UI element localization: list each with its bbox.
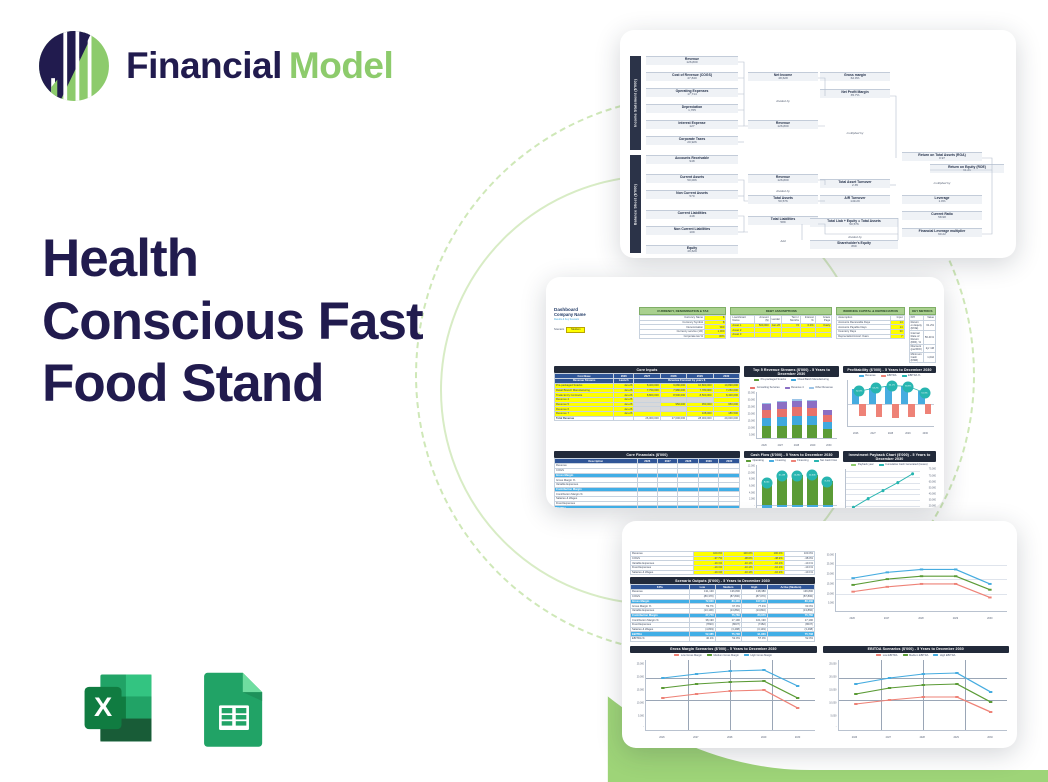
dashboard-note: Results & Key Scenario <box>554 318 635 321</box>
scenario-outputs-table: KPIsLowMediumHighActive (Medium)Revenue1… <box>630 584 815 641</box>
node-cogs: Cost of Revenue (COGS) 47,840 <box>646 72 738 81</box>
scenario-top-row: Revenue100.0%100.0%100.0%100.0%COGS-37.7… <box>630 551 1009 642</box>
payback-line-icon <box>846 469 920 508</box>
scenario-table-panel: Revenue100.0%100.0%100.0%100.0%COGS-37.7… <box>630 551 815 642</box>
debt-panel: DEBT ASSUMPTIONS Loan/Grant Name Amount … <box>730 307 832 338</box>
table-row: Return on Equity (ROE)61.2% <box>909 320 935 331</box>
scenario-overview-chart-panel: 30,000 25,000 20,000 15,000 10,000 5,000 <box>821 551 1009 642</box>
legend-item: Medium EBITDA <box>903 654 929 657</box>
node-total-assets: Total Assets 50,576 <box>748 195 818 204</box>
microsoft-excel-icon: X <box>74 664 162 752</box>
legend-item: Pre-packaged Snacks <box>754 378 786 381</box>
section-label-income-statement: Income Statement ($'000) <box>630 56 641 150</box>
circular-bar-chart-logo-icon <box>36 28 112 104</box>
profitability-panel: Profitability ($'000) - 5 Years to Decem… <box>843 366 936 448</box>
revenue-streams-panel: Top 5 Revenue Streams ($'000) - 5 Years … <box>744 366 839 448</box>
data-label-bubble: 10,332 <box>792 470 803 481</box>
scenario-overview-xlabels: 2026 2027 2028 2029 2030 <box>835 617 1007 620</box>
key-metrics-header: KEY METRICS <box>909 307 936 315</box>
node-revenue-2: Revenue 126,800 <box>748 120 818 129</box>
node-revenue-3: Revenue 126,800 <box>748 174 818 183</box>
data-label-bubble: 10,139 <box>776 470 787 481</box>
gross-margin-scenarios-panel: Gross Margin Scenarios ($'000) - 5 Years… <box>630 646 817 740</box>
legend-item: Consulting Services <box>750 386 779 389</box>
node-corporate-taxes: Corporate Taxes 20,926 <box>646 136 738 145</box>
table-row: Salaries & Wages-10.1%-10.1%-10.1%-10.1% <box>631 570 815 575</box>
table-row: EBITDA <box>555 506 740 508</box>
table-row: Asset 3 <box>731 333 832 338</box>
revenue-streams-yaxis: 35,000 30,000 25,000 20,000 15,000 10,00… <box>744 390 756 439</box>
legend-item: High EBITDA <box>933 654 955 657</box>
gross-margin-scenarios-chart: 25,000 20,000 15,000 10,000 5,000 - <box>630 658 817 740</box>
node-current-liabilities: Current Liabilities 448 <box>646 210 738 219</box>
legend-item: Low EBITDA <box>876 654 897 657</box>
node-operating-expenses: Operating Expenses 17,714 <box>646 88 738 97</box>
gross-margin-lines-icon <box>646 660 815 730</box>
operator-divided-by-3: divided by <box>820 235 890 239</box>
gross-margin-xlabels: 2026 2027 2028 2029 2030 <box>645 736 815 739</box>
payback-chart: 75,000 70,000 60,000 50,000 40,000 30,00… <box>843 467 936 508</box>
core-inputs-panel: Core Inputs Cost Base 2026 2027 2028 202… <box>554 366 740 448</box>
dashboard-top-strip: Dashboard Company Name Results & Key Sce… <box>554 307 936 363</box>
gross-margin-plot <box>645 660 815 731</box>
legend-item: Other Revenue <box>809 386 833 389</box>
operator-multiplied-by-2: multiplied by <box>902 181 982 185</box>
scenario-outputs-card[interactable]: Revenue100.0%100.0%100.0%100.0%COGS-37.7… <box>622 521 1017 748</box>
brand-word-model: Model <box>289 45 393 86</box>
table-row: EBITDA %40.1%52.0%57.0%52.0% <box>631 637 815 642</box>
data-label-bubble: 8,004 <box>761 477 772 488</box>
node-gross-margin: Gross margin 62.0% <box>820 72 890 81</box>
payback-yaxis: 75,000 70,000 60,000 50,000 40,000 30,00… <box>922 467 936 508</box>
ebitda-scenarios-panel: EBITDA Scenarios ($'000) - 5 Years to De… <box>823 646 1010 740</box>
scenario-overview-plot <box>835 553 1007 612</box>
currency-table: Currency Name$ Currency Symbol$ Denomina… <box>639 315 726 339</box>
node-roa: Return on Total Assets (ROA) 0.97 <box>902 152 982 161</box>
gross-margin-yaxis: 25,000 20,000 15,000 10,000 5,000 - <box>630 658 645 731</box>
table-row: Corporate tax %30% <box>640 334 726 339</box>
profitability-xlabels: 2026 2027 2028 2029 2030 <box>847 432 934 435</box>
dupont-ratio-tree-card[interactable]: Income Statement ($'000) Balance Sheet (… <box>620 30 1016 258</box>
legend-item: Net Cash Flow <box>814 459 838 462</box>
node-equity: Equity 49,629 <box>646 245 738 254</box>
legend-item: Investing <box>769 459 786 462</box>
table-row: Total Revenue 26,000,000 27,000,000 28,0… <box>555 416 740 421</box>
ebitda-scenarios-title: EBITDA Scenarios ($'000) - 5 Years to De… <box>823 646 1010 653</box>
node-revenue: Revenue 126,800 <box>646 56 738 65</box>
operator-add: Add <box>748 239 818 243</box>
scenario-assumption-table: Revenue100.0%100.0%100.0%100.0%COGS-37.7… <box>630 551 815 575</box>
financial-dashboard-card[interactable]: Dashboard Company Name Results & Key Sce… <box>546 277 944 508</box>
scenario-outputs-header: Scenario Outputs ($'000) - 5 Years to De… <box>630 577 815 584</box>
scenario-selector[interactable]: Medium <box>566 327 585 333</box>
node-shareholders-equity: Shareholder's Equity 869 <box>810 240 898 249</box>
data-label-bubble: 54.1% <box>886 380 897 391</box>
scenario-bottom-row: Gross Margin Scenarios ($'000) - 5 Years… <box>630 646 1009 740</box>
legend-item: Revenue 4 <box>785 386 804 389</box>
scenario-label: Scenario <box>554 328 564 331</box>
ebitda-lines-icon <box>839 660 1008 730</box>
profitability-plot: 52.0% 53.2% 54.1% 53.8% 51.5% <box>847 380 934 427</box>
brand-lockup: FinancialModel <box>36 28 393 104</box>
scenario-overview-lines-icon <box>836 553 1007 611</box>
core-financials-body: Description20262027202820292030RevenueCO… <box>555 459 740 508</box>
dashboard-company-name: Company Name <box>554 312 635 317</box>
operator-divided-by-2: divided by <box>748 189 818 193</box>
key-metrics-panel: KEY METRICS KPIValue Return on Equity (R… <box>909 307 936 363</box>
node-financial-leverage-multiplier: Financial Leverage multiplier 60.22 <box>902 228 982 237</box>
dashboard-middle-row: Core Inputs Cost Base 2026 2027 2028 202… <box>554 366 936 448</box>
brand-wordmark: FinancialModel <box>126 45 393 87</box>
data-label-bubble: 8,722 <box>822 476 833 487</box>
node-current-ratio: Current Ratio 58.98 <box>902 211 982 220</box>
node-total-liabilities: Total Liabilities 589 <box>748 216 818 225</box>
cash-flow-chart: 12,000 10,000 8,000 6,000 4,000 2,000 - … <box>744 463 839 508</box>
cash-flow-panel: Cash Flow ($'000) - 5 Years to December … <box>744 451 839 508</box>
gross-margin-scenarios-title: Gross Margin Scenarios ($'000) - 5 Years… <box>630 646 817 653</box>
table-row: Discount (per/ROI)2yr 1M <box>909 345 935 353</box>
node-interest-expense: Interest Expense 127 <box>646 120 738 129</box>
legend-item: Revenue <box>859 374 876 377</box>
scenario-overview-chart: 30,000 25,000 20,000 15,000 10,000 5,000 <box>821 551 1009 621</box>
table-row: Loan/Grant Name Amount ($) Lender Term /… <box>731 316 832 324</box>
page-title: Health Conscious Fast Food Stand <box>42 228 442 416</box>
table-row: Internal Rate of Return (IRR), %56.41% <box>909 331 935 345</box>
node-net-profit-margin: Net Profit Margin 35.7% <box>820 89 890 98</box>
legend-item: High Gross Margin <box>744 654 772 657</box>
cash-flow-plot: 8,004 10,139 10,332 10,506 8,722 <box>756 465 837 508</box>
operator-divided-by-1: divided by <box>748 99 818 103</box>
ebitda-xlabels: 2026 2027 2028 2029 2030 <box>838 736 1008 739</box>
dashboard-bottom-row: Core Financials ($'000) Description20262… <box>554 451 936 508</box>
legend-item: Cumulative Cash Generated (losses) <box>879 463 928 466</box>
node-current-assets: Current Assets 50,006 <box>646 174 738 183</box>
svg-text:X: X <box>94 691 112 722</box>
operator-multiplied-by-1: multiplied by <box>820 131 890 135</box>
legend-item: EBITDA <box>881 374 897 377</box>
scenario-overview-yaxis: 30,000 25,000 20,000 15,000 10,000 5,000 <box>821 551 835 612</box>
key-metrics-table: KPIValue Return on Equity (ROE)61.2% Int… <box>909 315 936 363</box>
node-depreciation: Depreciation 1,765 <box>646 104 738 113</box>
core-financials-header: Core Financials ($'000) <box>554 451 740 458</box>
profitability-chart: 52.0% 53.2% 54.1% 53.8% 51.5% 2026 2027 … <box>843 378 936 436</box>
legend-item: EBITDA % <box>902 374 921 377</box>
core-inputs-header: Core Inputs <box>554 366 740 373</box>
node-roe: Return on Equity (ROE) 61.21 <box>930 164 1004 173</box>
debt-table: Loan/Grant Name Amount ($) Lender Term /… <box>730 315 832 338</box>
revenue-streams-plot <box>756 392 837 439</box>
data-label-bubble: 53.2% <box>870 383 881 394</box>
currency-panel: CURRENCY, DENOMINATION & TAX Currency Na… <box>639 307 726 339</box>
currency-table-body: Currency Name$ Currency Symbol$ Denomina… <box>640 316 726 339</box>
node-total-asset-turnover: Total Asset Turnover 2.35 <box>820 179 890 188</box>
dashboard-title-block: Dashboard Company Name Results & Key Sce… <box>554 307 635 333</box>
core-inputs-table: Cost Base 2026 2027 2028 2029 2030 Reven… <box>554 373 740 421</box>
table-row: Minimum Cash (DSR)1,042 <box>909 352 935 363</box>
core-financials-table: Description20262027202820292030RevenueCO… <box>554 458 740 508</box>
payback-title: Investment Payback Chart ($'000) - 5 Yea… <box>843 451 936 462</box>
legend-item: Low Gross Margin <box>674 654 702 657</box>
node-net-income: Net Income 48,628 <box>748 72 818 81</box>
brand-word-financial: Financial <box>126 45 282 86</box>
compatible-apps: X <box>74 664 278 752</box>
legend-item: Operating <box>746 459 764 462</box>
cash-flow-title: Cash Flow ($'000) - 5 Years to December … <box>744 451 839 458</box>
data-label-bubble: 53.8% <box>903 381 914 392</box>
ebitda-plot <box>838 660 1008 731</box>
working-capital-table: AssumptionInput Accounts Receivable Days… <box>836 315 904 339</box>
node-accounts-receivable: Accounts Receivable 948 <box>646 155 738 164</box>
legend-item: Payback year <box>851 463 873 466</box>
revenue-streams-title: Top 5 Revenue Streams ($'000) - 5 Years … <box>744 366 839 377</box>
revenue-streams-xlabels: 2026 2027 2028 2029 2030 <box>756 444 837 447</box>
payback-panel: Investment Payback Chart ($'000) - 5 Yea… <box>843 451 936 508</box>
core-financials-panel: Core Financials ($'000) Description20262… <box>554 451 740 508</box>
data-label-bubble: 52.0% <box>854 386 865 397</box>
cash-flow-yaxis: 12,000 10,000 8,000 6,000 4,000 2,000 - … <box>744 463 756 508</box>
legend-item: Medium Gross Margin <box>707 654 739 657</box>
table-row: Depreciation/Amort Years7 <box>837 334 904 339</box>
node-leverage: Leverage 1.0% <box>902 195 982 204</box>
payback-plot <box>845 469 920 508</box>
google-sheets-icon <box>190 664 278 752</box>
node-non-current-assets: Non Current Assets 570 <box>646 190 738 199</box>
working-capital-header: WORKING CAPITAL & DEPRECIATION <box>836 307 904 315</box>
node-ar-turnover: A/R Turnover 149.29 <box>820 195 890 204</box>
ebitda-yaxis: 25,000 20,000 15,000 10,000 5,000 - <box>823 658 838 731</box>
ebitda-scenarios-chart: 25,000 20,000 15,000 10,000 5,000 - <box>823 658 1010 740</box>
currency-panel-header: CURRENCY, DENOMINATION & TAX <box>639 307 726 315</box>
ratio-tree: Income Statement ($'000) Balance Sheet (… <box>630 56 1008 240</box>
revenue-streams-chart: 35,000 30,000 25,000 20,000 15,000 10,00… <box>744 390 839 448</box>
legend-item: Financing <box>791 459 809 462</box>
revenue-streams-legend: Pre-packaged Snacks Cloud Batch Manufact… <box>744 377 839 390</box>
data-label-bubble: 10,506 <box>807 470 818 481</box>
debt-panel-header: DEBT ASSUMPTIONS <box>730 307 832 315</box>
section-label-balance-sheet: Balance Sheet ($'000) <box>630 155 641 253</box>
legend-item: Cloud Batch Manufacturing <box>791 378 829 381</box>
working-capital-panel: WORKING CAPITAL & DEPRECIATION Assumptio… <box>836 307 904 339</box>
node-non-current-liabilities: Non Current Liabilities 109 <box>646 226 738 235</box>
node-total-liab-equity: Total Liab + Equity = Total Assets 50,57… <box>810 218 898 227</box>
profitability-title: Profitability ($'000) - 5 Years to Decem… <box>843 366 936 373</box>
data-label-bubble: 51.5% <box>919 388 930 399</box>
